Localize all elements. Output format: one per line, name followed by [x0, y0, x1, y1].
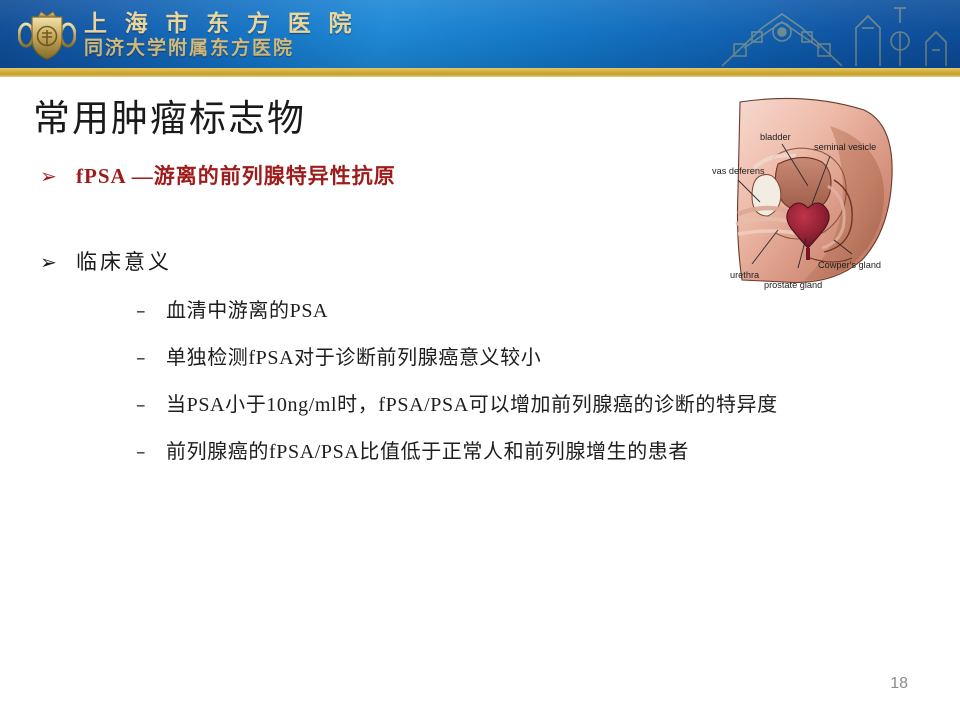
bullet-clinical-label: 临床意义 [76, 246, 172, 276]
page-number: 18 [890, 675, 908, 693]
anatomy-label-cowpers-gland: Cowper's gland [818, 260, 881, 270]
dash-bullet-icon: – [136, 394, 166, 416]
dash-bullet-icon: – [136, 300, 166, 322]
bullet-fpsa: ➢ fPSA —游离的前列腺特异性抗原 [40, 160, 396, 190]
dash-bullet-icon: – [136, 441, 166, 463]
clinical-significance-list: – 血清中游离的PSA – 单独检测fPSA对于诊断前列腺癌意义较小 – 当PS… [136, 294, 936, 482]
list-item: – 前列腺癌的fPSA/PSA比值低于正常人和前列腺增生的患者 [136, 435, 936, 482]
gold-divider-bar [0, 68, 960, 77]
list-item: – 血清中游离的PSA [136, 294, 936, 341]
list-item: – 单独检测fPSA对于诊断前列腺癌意义较小 [136, 341, 936, 388]
list-item-label: 当PSA小于10ng/ml时，fPSA/PSA可以增加前列腺癌的诊断的特异度 [166, 388, 778, 417]
hospital-name-secondary: 同济大学附属东方医院 [84, 37, 424, 61]
anatomy-label-vas-deferens: vas deferens [712, 166, 765, 176]
arrow-bullet-icon: ➢ [40, 250, 76, 274]
bullet-clinical-significance: ➢ 临床意义 [40, 246, 172, 276]
anatomy-label-bladder: bladder [760, 132, 791, 142]
gate-skyline-watermark [704, 2, 954, 68]
hospital-name-block: 上 海 市 东 方 医 院 同济大学附属东方医院 [84, 10, 424, 62]
list-item-label: 血清中游离的PSA [166, 294, 328, 323]
male-prostate-anatomy-illustration: bladder seminal vesicle vas deferens ure… [712, 90, 912, 290]
dash-bullet-icon: – [136, 347, 166, 369]
anatomy-label-seminal-vesicle: seminal vesicle [814, 142, 876, 152]
hospital-name-primary: 上 海 市 东 方 医 院 [84, 10, 424, 37]
list-item: – 当PSA小于10ng/ml时，fPSA/PSA可以增加前列腺癌的诊断的特异度 [136, 388, 936, 435]
hospital-crest-emblem [18, 9, 76, 63]
arrow-bullet-icon: ➢ [40, 164, 76, 188]
bullet-fpsa-label: fPSA —游离的前列腺特异性抗原 [76, 160, 396, 190]
list-item-label: 单独检测fPSA对于诊断前列腺癌意义较小 [166, 341, 541, 370]
slide-header-banner: 上 海 市 东 方 医 院 同济大学附属东方医院 [0, 0, 960, 68]
page-title: 常用肿瘤标志物 [33, 88, 306, 142]
list-item-label: 前列腺癌的fPSA/PSA比值低于正常人和前列腺增生的患者 [166, 435, 689, 464]
anatomy-label-prostate-gland: prostate gland [764, 280, 822, 290]
anatomy-label-urethra: urethra [730, 270, 760, 280]
